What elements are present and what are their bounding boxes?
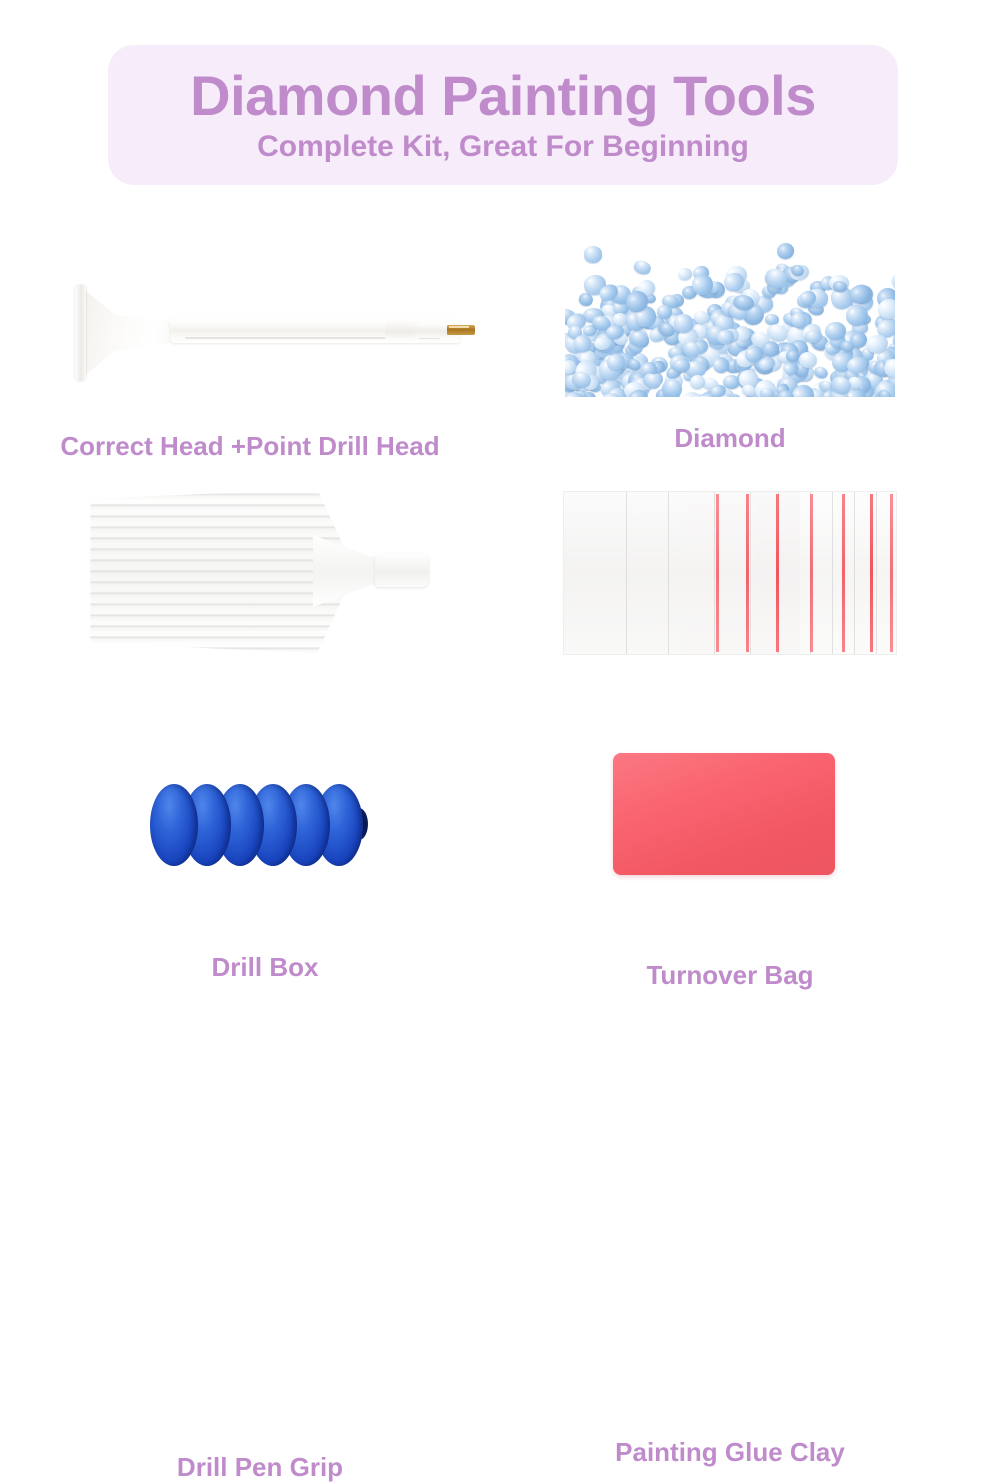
bag-seal-stripe [776, 494, 779, 652]
product-label-painting-glue-clay: Painting Glue Clay [555, 1437, 905, 1468]
product-grid: Correct Head +Point Drill Head Diamond D… [0, 205, 1000, 1000]
diamond-bead [812, 365, 829, 380]
diamond-bead [689, 374, 706, 390]
product-label-turnover-bag: Turnover Bag [555, 960, 905, 991]
pen-collar [385, 319, 419, 341]
bag-fold-line [626, 492, 627, 654]
diamond-bead [786, 349, 800, 362]
foam-grip-illustration [150, 778, 370, 874]
diamond-bead [677, 267, 693, 281]
diamond-bead [804, 329, 822, 343]
bag-seal-stripe [842, 494, 845, 652]
drill-tray-illustration [85, 483, 445, 659]
product-label-drill-pen-grip: Drill Pen Grip [60, 1452, 460, 1483]
diamond-bead [657, 305, 672, 320]
product-cell-turnover-bag: Turnover Bag [555, 483, 905, 663]
correction-head-blade [75, 285, 86, 381]
drill-pen-grip-image [60, 760, 460, 900]
bag-seal-stripe [810, 494, 813, 652]
product-cell-drill-pen-grip: Drill Pen Grip [60, 760, 460, 900]
bag-fold-line [876, 492, 877, 654]
bag-fold-line [668, 492, 669, 654]
bag-panel [564, 492, 682, 654]
product-cell-drill-box: Drill Box [55, 475, 475, 665]
grip-segment [150, 784, 198, 866]
bag-fold-line [832, 492, 833, 654]
diamond-bead [632, 258, 652, 276]
bag-seal-stripe [746, 494, 749, 652]
drill-pen-illustration [55, 283, 485, 383]
drill-pen-image [10, 235, 490, 415]
correction-head-flare [81, 287, 181, 379]
diamond-image [555, 227, 905, 407]
product-label-diamond: Diamond [555, 423, 905, 454]
zip-bag-stack [563, 491, 897, 655]
turnover-bag-image [555, 483, 905, 663]
diamond-bead [790, 313, 806, 327]
bag-seal-stripe [870, 494, 873, 652]
drill-box-image [55, 475, 475, 665]
bag-seal-stripe [716, 494, 719, 652]
product-label-correct-head-point-drill-head: Correct Head +Point Drill Head [10, 431, 490, 462]
painting-glue-clay-image [555, 745, 905, 900]
header-banner: Diamond Painting Tools Complete Kit, Gre… [108, 45, 898, 185]
page-title: Diamond Painting Tools [190, 67, 816, 126]
product-label-drill-box: Drill Box [55, 952, 475, 983]
bag-fold-line [750, 492, 751, 654]
product-cell-painting-glue-clay: Painting Glue Clay [555, 745, 905, 900]
tray-spout-handle [375, 553, 429, 587]
bag-fold-line [714, 492, 715, 654]
bag-fold-line [854, 492, 855, 654]
page-subtitle: Complete Kit, Great For Beginning [257, 130, 749, 163]
glue-clay-illustration [613, 753, 835, 875]
point-drill-tip-highlight [449, 326, 469, 328]
bag-seal-stripe [890, 494, 893, 652]
diamond-bead [593, 336, 611, 350]
diamond-bead [760, 387, 774, 397]
product-cell-diamond: Diamond [555, 227, 905, 407]
diamond-bead [583, 245, 602, 263]
diamond-bead-pile [565, 237, 895, 397]
product-cell-correct-head-point-drill-head: Correct Head +Point Drill Head [10, 235, 490, 415]
diamond-bead [776, 241, 796, 260]
glue-clay-block [613, 753, 835, 875]
